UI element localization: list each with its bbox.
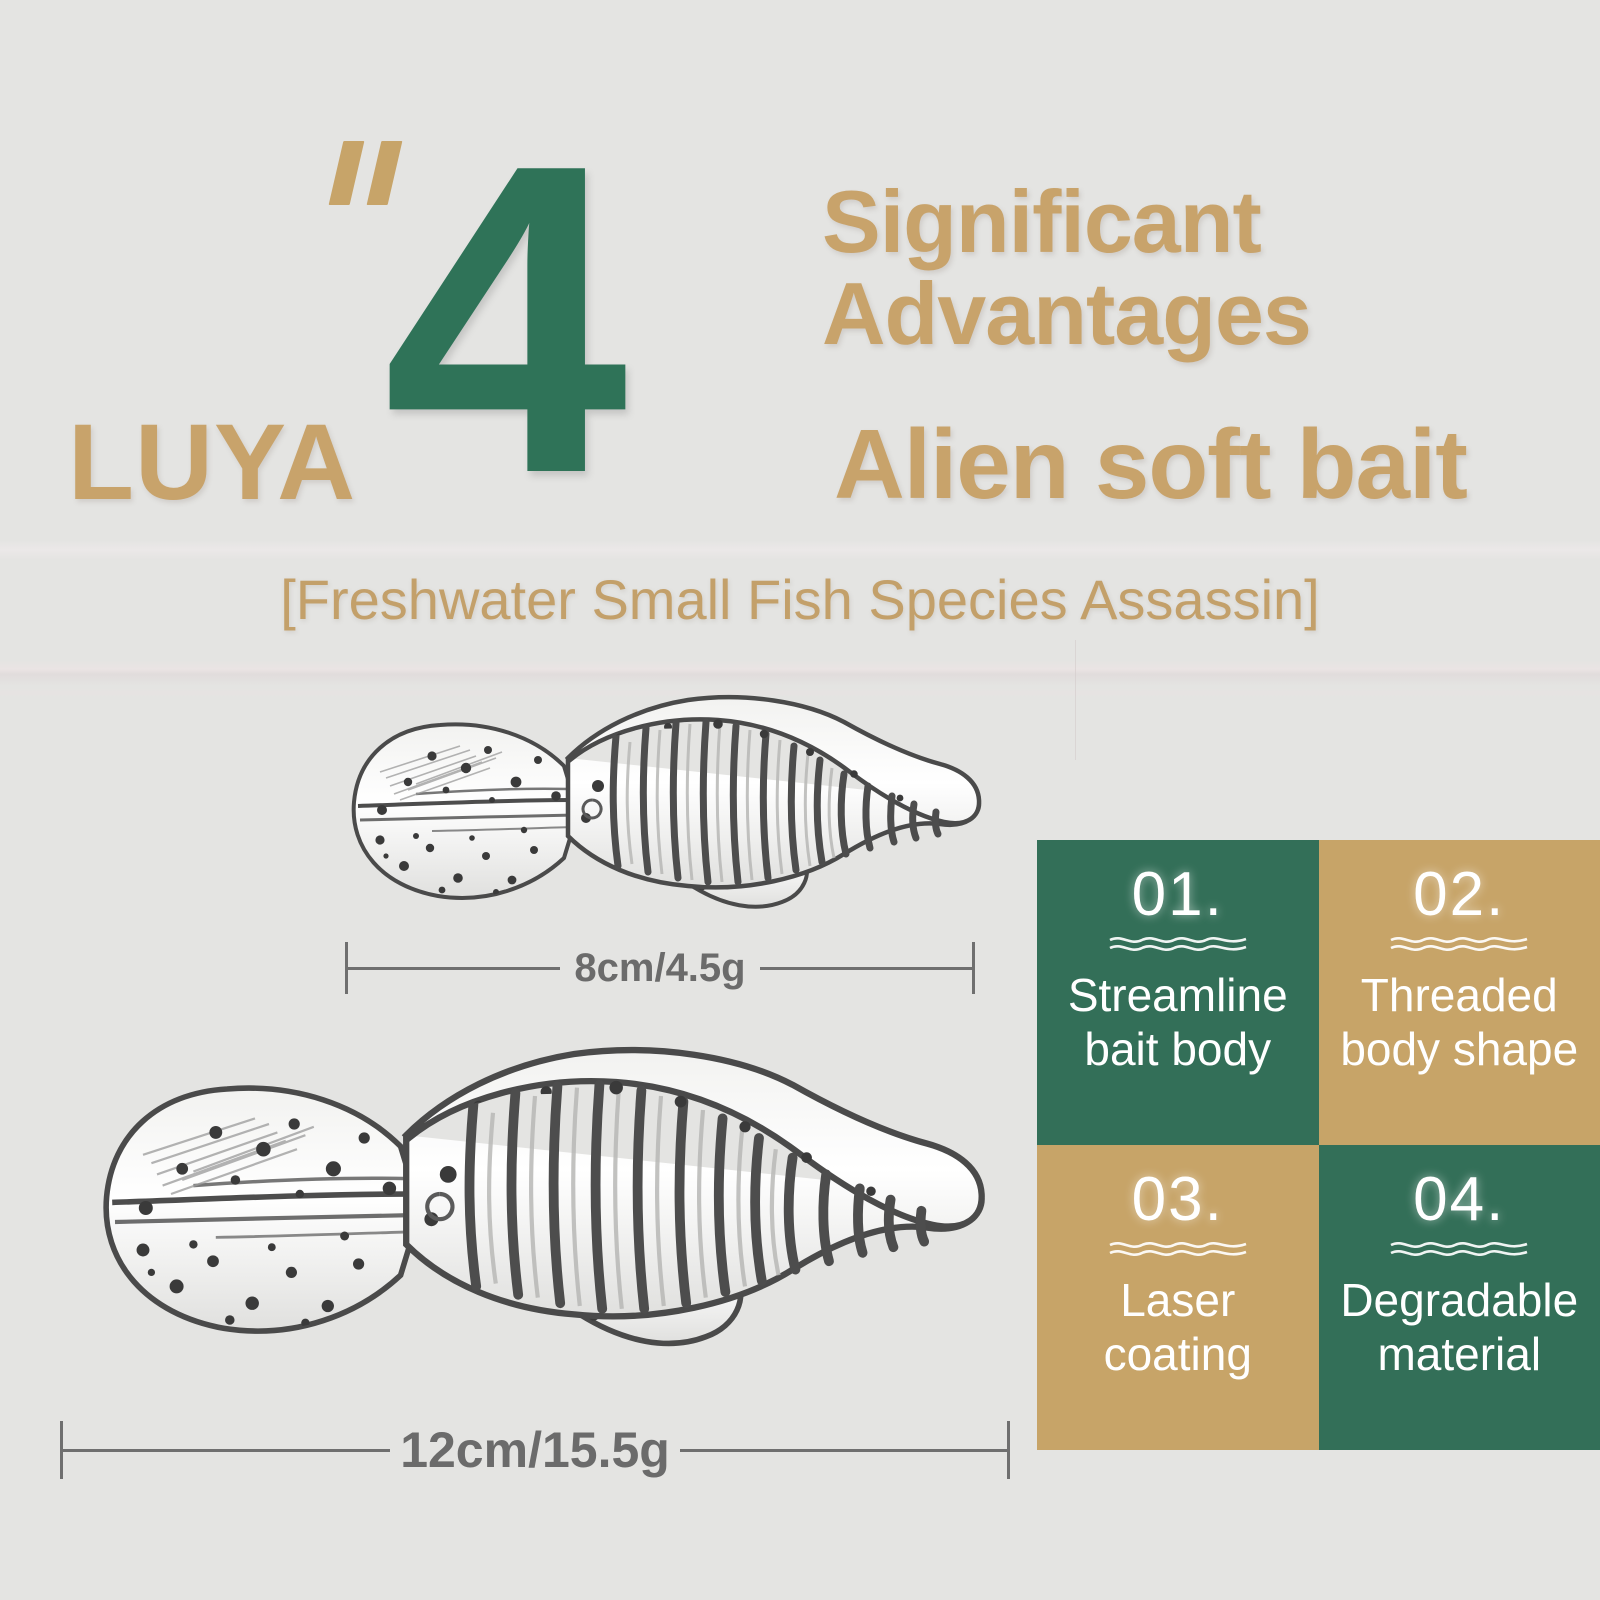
brand-name: LUYA [68, 406, 356, 518]
feature-number: 04. [1413, 1167, 1505, 1233]
wave-divider-icon [1389, 932, 1529, 954]
dimension-rule-left [348, 967, 560, 970]
dimension-label-large: 12cm/15.5g [390, 1421, 680, 1479]
feature-cell-03[interactable]: 03. Laser coating [1037, 1145, 1319, 1450]
feature-text-line1: Threaded [1361, 968, 1558, 1022]
feature-number: 02. [1413, 862, 1505, 928]
dimension-line-small: 8cm/4.5g [345, 938, 975, 998]
headline-significant: Significant [822, 176, 1261, 268]
product-infographic-page: 4 Significant Advantages LUYA Alien soft… [0, 0, 1600, 1600]
headline-advantages: Advantages [822, 268, 1311, 360]
feature-text-line2: bait body [1084, 1022, 1271, 1076]
dimension-line-large: 12cm/15.5g [60, 1420, 1010, 1480]
dimension-label-small: 8cm/4.5g [560, 946, 759, 991]
advantage-count-number: 4 [383, 100, 614, 540]
wave-divider-icon [1108, 932, 1248, 954]
feature-cell-04[interactable]: 04. Degradable material [1319, 1145, 1600, 1450]
page-subtitle: [Freshwater Small Fish Species Assassin] [0, 568, 1600, 632]
dimension-cap-right [972, 942, 975, 994]
feature-text-line1: Laser [1120, 1273, 1235, 1327]
lure-illustration-large [40, 1040, 1030, 1390]
wave-divider-icon [1108, 1237, 1248, 1259]
feature-text-line1: Streamline [1068, 968, 1288, 1022]
feature-grid: 01. Streamline bait body 02. Threaded bo… [1037, 840, 1600, 1450]
feature-text-line2: material [1377, 1327, 1541, 1381]
feature-text-line2: coating [1104, 1327, 1252, 1381]
wave-divider-icon [1389, 1237, 1529, 1259]
lure-illustration-small [320, 690, 1000, 940]
background-artifact [0, 660, 1600, 686]
dimension-rule-left [63, 1449, 390, 1452]
dimension-cap-right [1007, 1421, 1010, 1479]
feature-number: 03. [1132, 1167, 1224, 1233]
feature-cell-02[interactable]: 02. Threaded body shape [1319, 840, 1600, 1145]
dimension-rule-right [680, 1449, 1007, 1452]
feature-text-line2: body shape [1340, 1022, 1578, 1076]
feature-cell-01[interactable]: 01. Streamline bait body [1037, 840, 1319, 1145]
product-name: Alien soft bait [834, 412, 1467, 516]
background-artifact [0, 540, 1600, 560]
feature-text-line1: Degradable [1340, 1273, 1578, 1327]
background-artifact [1075, 640, 1076, 760]
dimension-rule-right [760, 967, 972, 970]
feature-number: 01. [1132, 862, 1224, 928]
